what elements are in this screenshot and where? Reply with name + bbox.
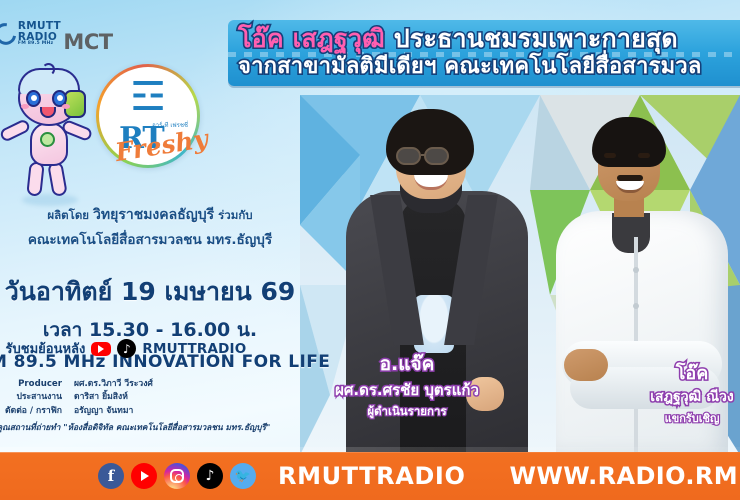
guest-right-role: แขกรับเชิญ xyxy=(592,409,740,427)
rmutt-flame-icon: ☲ xyxy=(130,77,166,117)
nameplate-host-left: อ.แจ๊ค ผศ.ดร.ศรชัย บุตรแก้ว ผู้ดำเนินราย… xyxy=(296,349,518,421)
credit-value: อรัญญา จันทมา xyxy=(74,405,133,418)
nameplate-guest-right: โอ๊ค เสฎฐวุฒิ ณีวง แขกรับเชิญ xyxy=(592,358,740,427)
partner-faculty: คณะเทคโนโลยีสื่อสารมวลชน มทร.ธัญบุรี xyxy=(0,228,300,250)
credit-key: Producer xyxy=(0,378,74,391)
credit-value: ผศ.ดร.วิภาวี วีระวงศ์ xyxy=(74,378,153,391)
rmutt-radio-frequency: FM 89.5 MHz xyxy=(18,42,61,47)
host-left-nickname: อ.แจ๊ค xyxy=(296,349,518,379)
title-line-2: จากสาขามัลติมีเดียฯ คณะเทคโนโลยีสื่อสารม… xyxy=(238,54,738,80)
credit-row: ประสานงาน ดาริสา ยิ้มสิงห์ xyxy=(0,391,292,404)
rt-freshy-badge: ☲ RT อาร์-ที เฟรชชี่ Freshy xyxy=(96,64,200,168)
replay-label: รับชมย้อนหลัง xyxy=(6,338,86,359)
tiktok-glyph: ♪ xyxy=(123,343,131,355)
produced-by-name: วิทยุราชมงคลธัญบุรี xyxy=(93,207,214,223)
title-line-1: โอ๊ค เสฎฐวุฒิ ประธานชมรมเพาะกายสุด xyxy=(238,24,738,54)
replay-channels: รับชมย้อนหลัง ♪ RMUTTRADIO xyxy=(0,338,252,359)
credit-key: ประสานงาน xyxy=(0,391,74,404)
mct-label: MCT xyxy=(62,30,114,54)
tiktok-icon[interactable]: ♪ xyxy=(117,339,136,358)
promo-poster: RMUTT RADIO FM 89.5 MHz MCT ☲ RT อาร์-ที… xyxy=(0,0,740,500)
produced-by-line: ผลิตโดย วิทยุราชมงคลธัญบุรี ร่วมกับ xyxy=(0,204,300,226)
youtube-icon[interactable] xyxy=(91,342,111,356)
host-left-fullname: ผศ.ดร.ศรชัย บุตรแก้ว xyxy=(296,378,518,402)
footer-handle: RMUTTRADIO xyxy=(278,462,465,490)
credit-row: Producer ผศ.ดร.วิภาวี วีระวงศ์ xyxy=(0,378,292,391)
guest-right-fullname: เสฎฐวุฒิ ณีวง xyxy=(592,386,740,408)
facebook-icon[interactable]: f xyxy=(98,463,124,489)
social-icons: f ♪ 🐦 xyxy=(98,463,256,489)
tiktok-icon[interactable]: ♪ xyxy=(197,463,223,489)
credit-row: ตัดต่อ / กราฟิก อรัญญา จันทมา xyxy=(0,405,292,418)
rmutt-radio-logo: RMUTT RADIO FM 89.5 MHz xyxy=(3,14,61,54)
footer-website: WWW.RADIO.RMUTT.AC.TH xyxy=(509,462,740,490)
credits-block: Producer ผศ.ดร.วิภาวี วีระวงศ์ ประสานงาน… xyxy=(0,378,292,434)
footer-bar: f ♪ 🐦 RMUTTRADIO WWW.RADIO.RMUTT.AC.TH xyxy=(0,452,740,500)
host-left-role: ผู้ดำเนินรายการ xyxy=(296,403,518,421)
title-banner: โอ๊ค เสฎฐวุฒิ ประธานชมรมเพาะกายสุด จากสา… xyxy=(228,20,740,86)
title-guest-name: โอ๊ค เสฎฐวุฒิ xyxy=(238,24,385,53)
replay-handle: RMUTTRADIO xyxy=(142,341,246,357)
title-line-1-rest: ประธานชมรมเพาะกายสุด xyxy=(385,24,678,53)
credit-value: ดาริสา ยิ้มสิงห์ xyxy=(74,391,128,404)
title-line-2-text: จากสาขามัลติมีเดียฯ คณะเทคโนโลยีสื่อสารม… xyxy=(238,54,702,79)
credits-thanks: ขอขอบคุณสถานที่ถ่ายทำ "ห้องสื่อดิจิทัล ค… xyxy=(0,420,292,434)
rmutt-radio-mascot xyxy=(4,66,100,206)
produced-by-suffix: ร่วมกับ xyxy=(214,208,252,222)
credit-key: ตัดต่อ / กราฟิก xyxy=(0,405,74,418)
mct-logo: MCT xyxy=(62,10,114,56)
instagram-icon[interactable] xyxy=(164,463,190,489)
youtube-icon[interactable] xyxy=(131,463,157,489)
produced-by-prefix: ผลิตโดย xyxy=(47,208,93,222)
guest-right-nickname: โอ๊ค xyxy=(592,358,740,387)
broadcast-date: วันอาทิตย์ 19 เมษายน 69 xyxy=(0,272,300,312)
twitter-icon[interactable]: 🐦 xyxy=(230,463,256,489)
